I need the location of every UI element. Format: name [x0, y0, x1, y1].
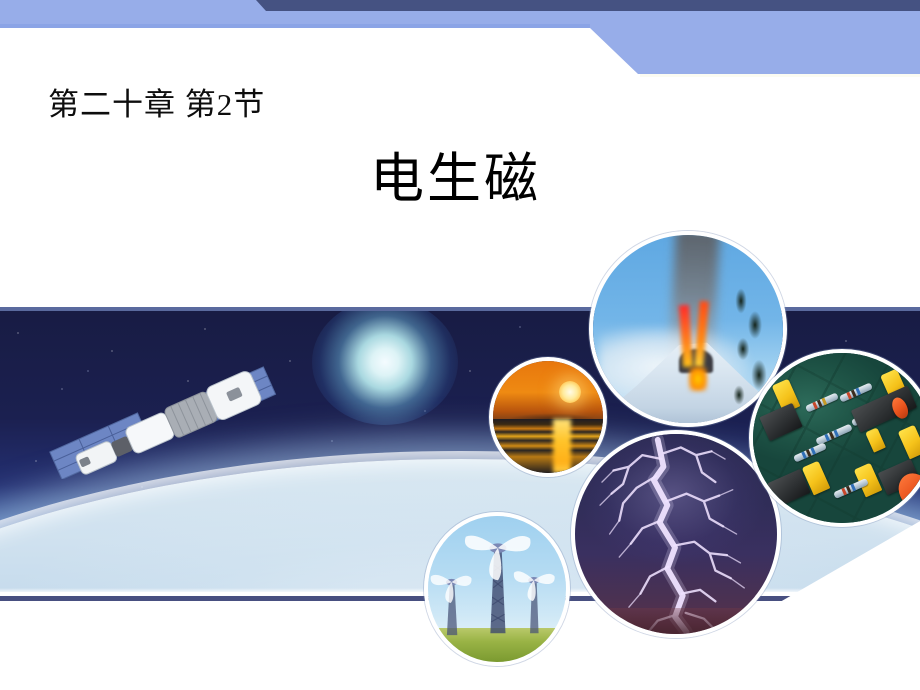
header-banner-soft-line	[640, 74, 920, 77]
photo-circle-lightning	[571, 430, 781, 638]
header-banner-light-shape	[0, 0, 920, 74]
satellite-icon	[44, 363, 280, 479]
volcano-lava-glow	[689, 367, 707, 391]
sunset-sun-reflection	[553, 419, 571, 473]
lightning-bolt-icon	[575, 434, 777, 634]
header-banner-edge-line	[0, 24, 590, 28]
chapter-subtitle: 第二十章 第2节	[48, 79, 265, 124]
page-title: 电生磁	[370, 134, 541, 213]
photo-circle-wind-turbines	[424, 512, 570, 666]
wind-turbine-icon	[428, 516, 566, 662]
photo-circle-circuit-board	[749, 349, 920, 527]
lightning-horizon	[575, 608, 781, 634]
presentation-slide: 第二十章 第2节 电生磁	[0, 0, 920, 690]
sun-icon	[559, 381, 581, 403]
